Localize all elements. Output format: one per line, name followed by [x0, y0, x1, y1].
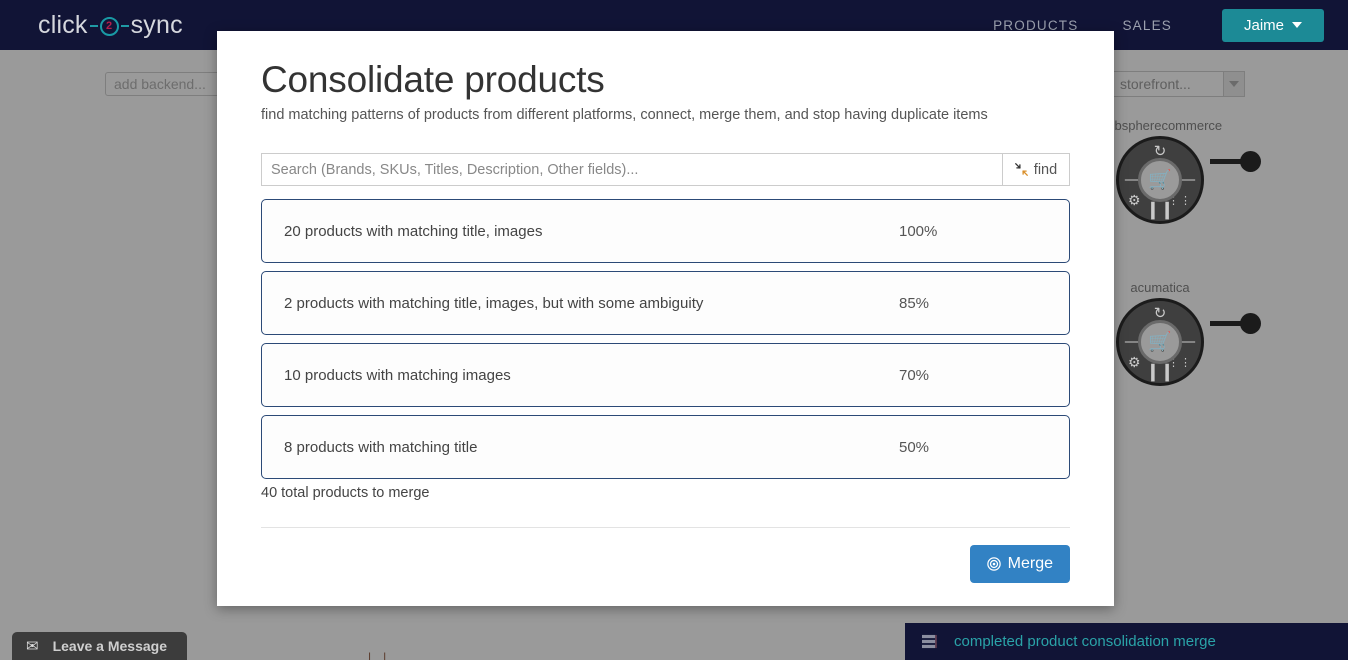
match-results-list: 20 products with matching title, images … [261, 199, 1070, 479]
envelope-icon: ✉ [26, 637, 39, 655]
storefront-select[interactable]: storefront... [1113, 71, 1245, 97]
merge-button[interactable]: Merge [970, 545, 1070, 583]
app-root: click 2 sync PRODUCTS SALES Jaime add ba… [0, 0, 1348, 660]
leave-a-message-label: Leave a Message [53, 638, 167, 654]
find-button-label: find [1034, 162, 1057, 178]
match-result-row[interactable]: 20 products with matching title, images … [261, 199, 1070, 263]
match-result-row[interactable]: 8 products with matching title 50% [261, 415, 1070, 479]
storefront-dropdown-arrow[interactable] [1223, 71, 1245, 97]
leave-a-message-widget[interactable]: ✉ Leave a Message [12, 632, 187, 660]
user-menu-button[interactable]: Jaime [1222, 9, 1324, 42]
dialog-subtitle: find matching patterns of products from … [261, 107, 1070, 123]
match-result-label: 10 products with matching images [262, 367, 899, 384]
node-connector-dot[interactable] [1240, 151, 1261, 172]
notification-text: completed product consolidation merge [954, 633, 1216, 650]
merge-button-label: Merge [1008, 555, 1053, 573]
dialog-title: Consolidate products [261, 59, 1070, 101]
app-logo[interactable]: click 2 sync [38, 11, 183, 40]
server-list-icon [921, 634, 938, 649]
notification-bar[interactable]: completed product consolidation merge [905, 623, 1348, 660]
gear-icon[interactable]: ⚙ [1128, 193, 1141, 207]
pause-icon[interactable]: ❙❙ [1146, 363, 1175, 380]
node-connector-dot[interactable] [1240, 313, 1261, 334]
nav-item-sales[interactable]: SALES [1100, 18, 1194, 33]
pause-icon[interactable]: ❙❙ [1146, 201, 1175, 218]
gear-icon[interactable]: ⚙ [1128, 355, 1141, 369]
chevron-down-icon [1292, 22, 1302, 28]
refresh-icon[interactable]: ↻ [1154, 144, 1167, 159]
shopping-cart-icon[interactable]: 🛒 [1138, 158, 1182, 202]
match-result-row[interactable]: 2 products with matching title, images, … [261, 271, 1070, 335]
search-input[interactable] [261, 153, 1002, 186]
compress-icon [1015, 163, 1028, 176]
logo-badge-icon: 2 [100, 17, 119, 36]
logo-dash-right [121, 25, 129, 27]
decorative-ticks: || [368, 650, 398, 660]
match-result-percent: 50% [899, 439, 1069, 456]
dialog-body: Consolidate products find matching patte… [217, 31, 1114, 501]
match-result-percent: 85% [899, 295, 1069, 312]
logo-dash-left [90, 25, 98, 27]
match-result-percent: 70% [899, 367, 1069, 384]
find-button[interactable]: find [1002, 153, 1070, 186]
dialog-footer: Merge [261, 527, 1070, 583]
logo-text-click: click [38, 11, 88, 40]
total-products-text: 40 total products to merge [261, 485, 1070, 501]
logo-text-sync: sync [131, 11, 183, 40]
match-result-percent: 100% [899, 223, 1069, 240]
storefront-select-value: storefront... [1113, 71, 1223, 97]
shopping-cart-icon[interactable]: 🛒 [1138, 320, 1182, 364]
match-result-label: 8 products with matching title [262, 439, 899, 456]
add-backend-select[interactable]: add backend... [105, 72, 235, 96]
consolidate-products-dialog: Consolidate products find matching patte… [217, 31, 1114, 606]
refresh-icon[interactable]: ↻ [1154, 306, 1167, 321]
match-result-label: 20 products with matching title, images [262, 223, 899, 240]
node-dial[interactable]: ↻ ⟶ ⟵ ⚙ ⋮⋮ ❙❙ 🛒 [1116, 298, 1204, 386]
match-result-row[interactable]: 10 products with matching images 70% [261, 343, 1070, 407]
user-menu-label: Jaime [1244, 17, 1284, 34]
bullseye-icon [987, 557, 1001, 571]
node-dial[interactable]: ↻ ⟶ ⟵ ⚙ ⋮⋮ ❙❙ 🛒 [1116, 136, 1204, 224]
search-row: find [261, 153, 1070, 186]
chevron-down-icon [1229, 81, 1239, 87]
match-result-label: 2 products with matching title, images, … [262, 295, 899, 312]
